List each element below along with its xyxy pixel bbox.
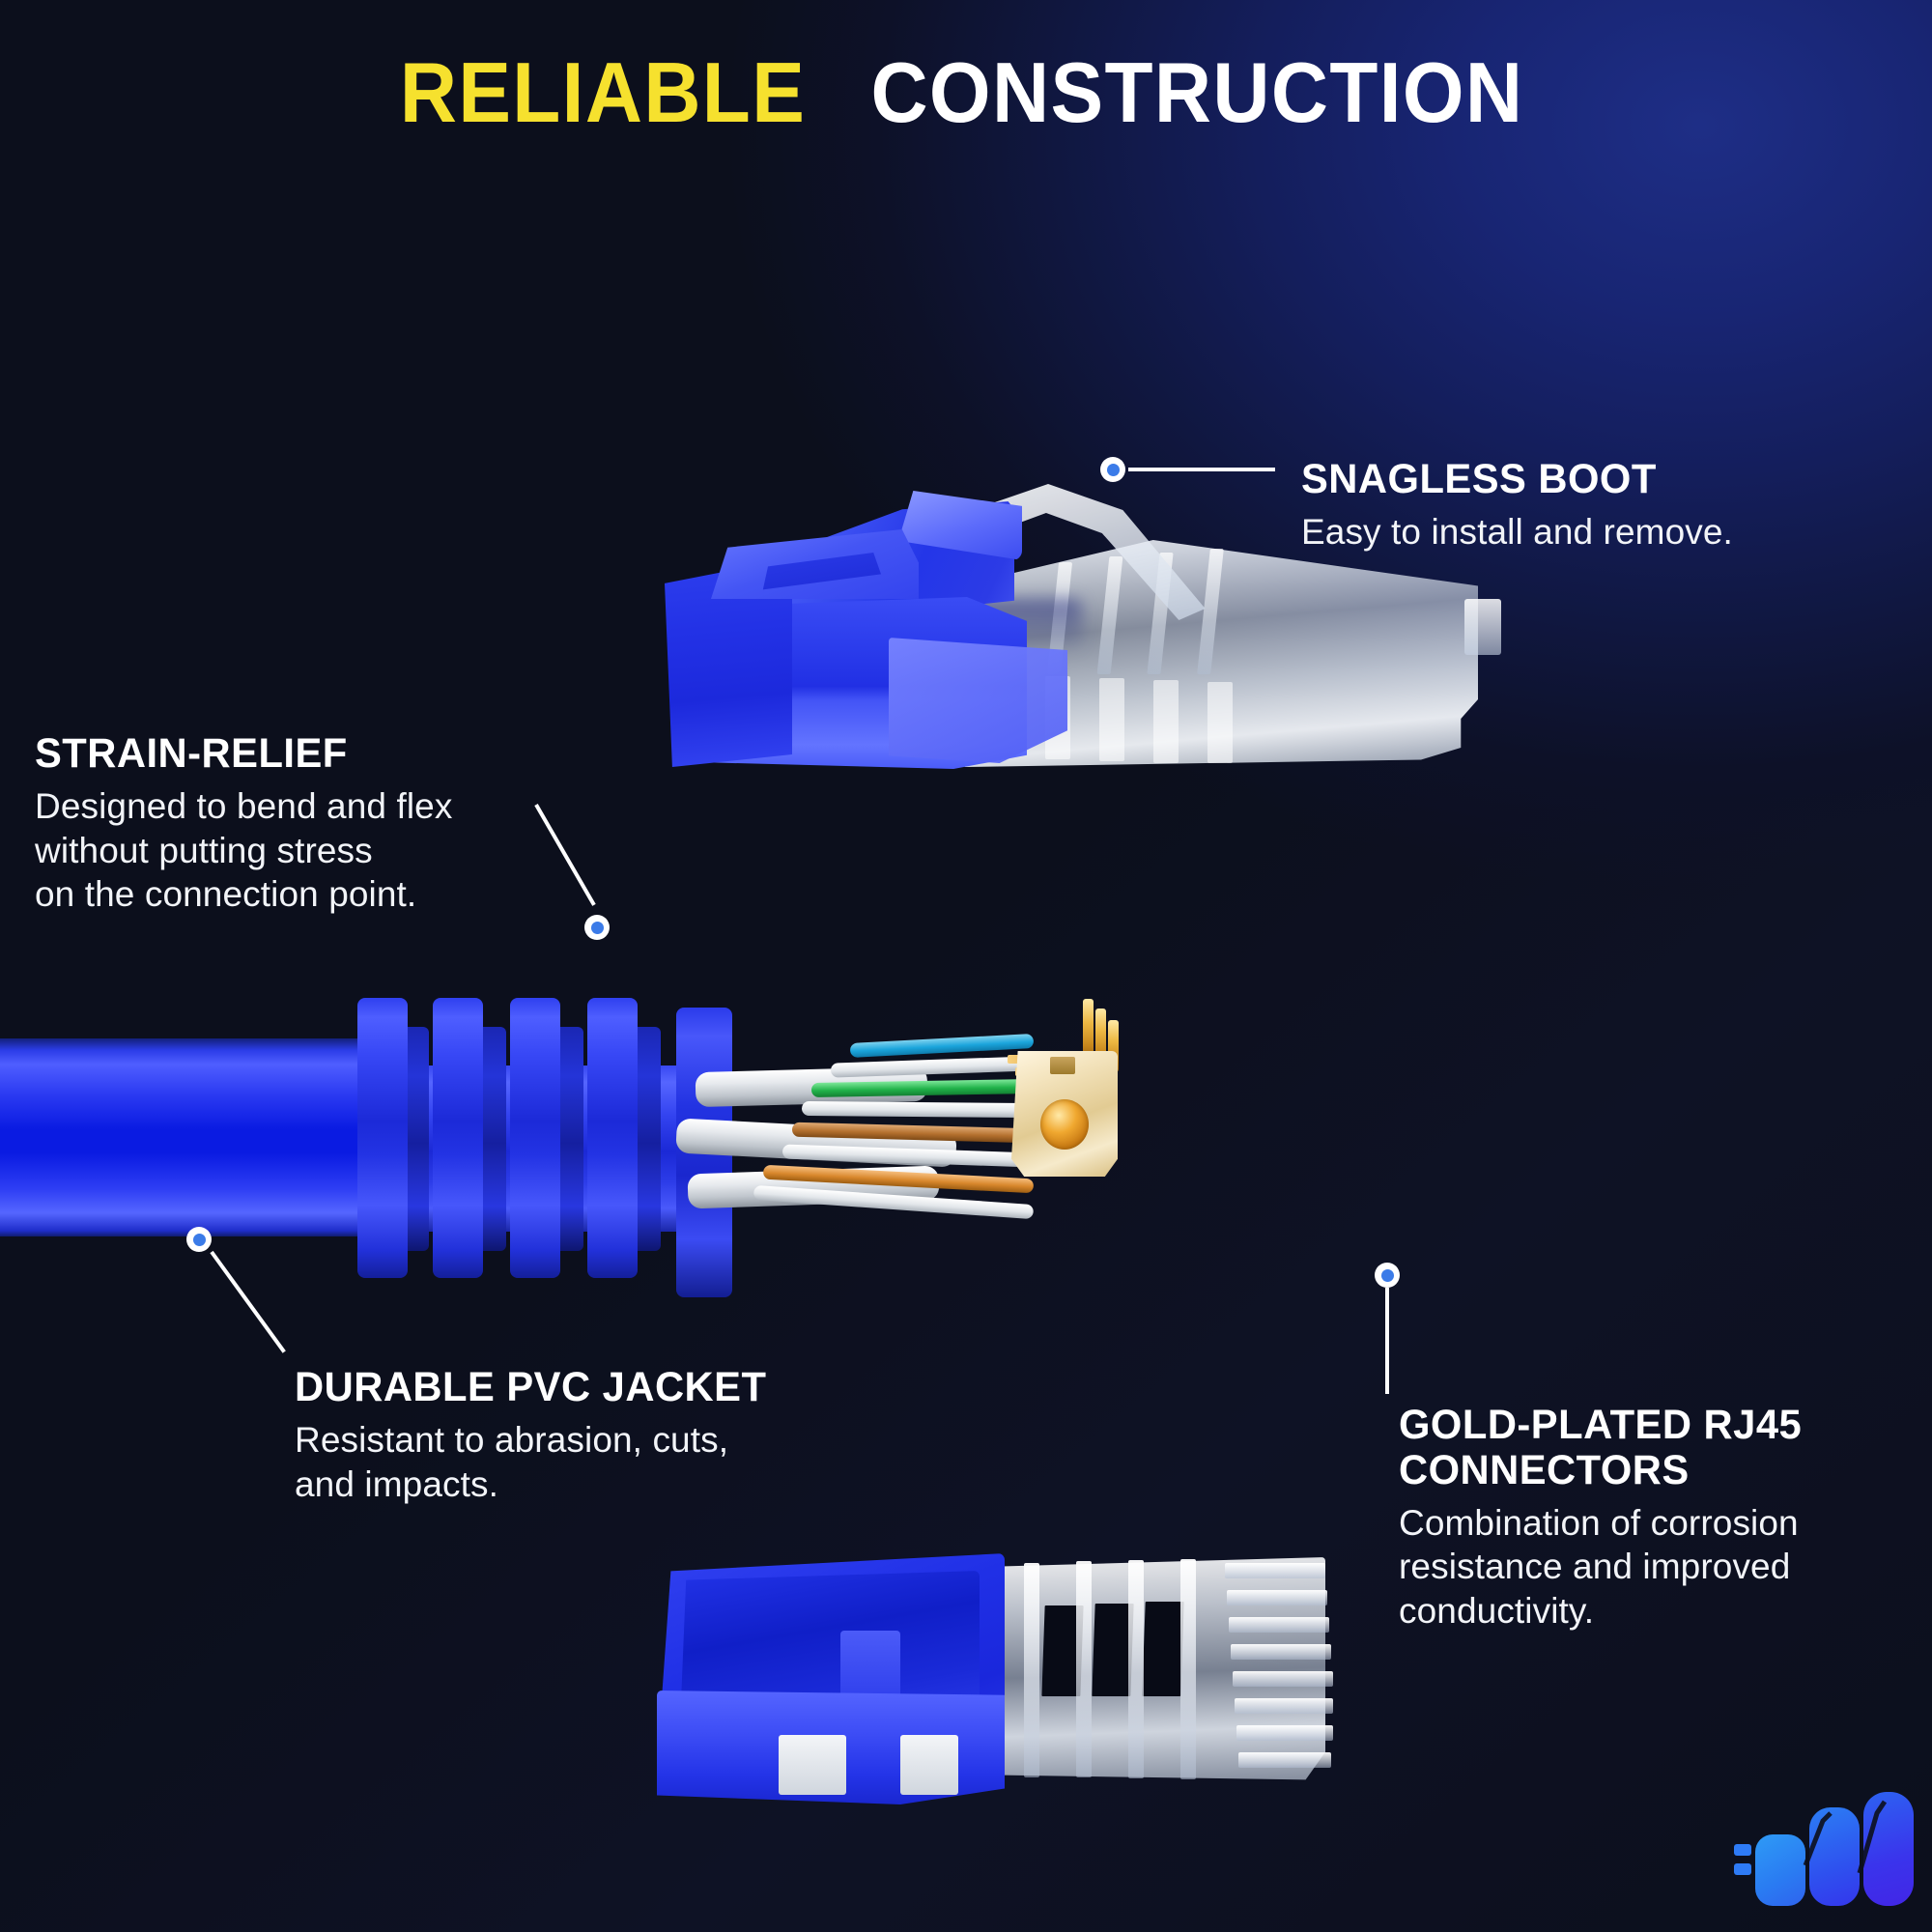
gold-plug-window — [1040, 1099, 1089, 1150]
callout-gold-plated-connectors: GOLD-PLATED RJ45 CONNECTORS Combination … — [1399, 1403, 1901, 1633]
housing-slot — [1142, 1602, 1183, 1696]
logo-dash-icon — [1734, 1844, 1751, 1856]
gold-plug-notch — [1050, 1057, 1075, 1074]
housing-ridge — [1076, 1561, 1092, 1777]
contact-ridge — [1229, 1617, 1329, 1633]
strain-relief-fin — [433, 998, 483, 1278]
callout-title-snagless-boot: SNAGLESS BOOT — [1301, 456, 1720, 503]
contact-ridge — [1225, 1563, 1325, 1578]
callout-snagless-boot: SNAGLESS BOOT Easy to install and remove… — [1301, 456, 1733, 554]
boot-tongue — [840, 1631, 900, 1702]
callout-body-pvc-jacket: Resistant to abrasion, cuts, and impacts… — [295, 1418, 781, 1506]
front-notch — [1464, 599, 1501, 655]
boot-white-patch — [900, 1735, 958, 1795]
contact-ridge — [1238, 1752, 1331, 1768]
housing-ridge — [1024, 1563, 1039, 1777]
strain-relief-fin — [510, 998, 560, 1278]
rj45-connector-top-view — [657, 1546, 1352, 1835]
callout-body-snagless-boot: Easy to install and remove. — [1301, 510, 1733, 554]
contact-ridge — [1227, 1590, 1327, 1605]
callout-marker-pvc-jacket[interactable] — [186, 1227, 212, 1252]
callout-body-gold-connectors: Combination of corrosion resistance and … — [1399, 1501, 1901, 1634]
boot-white-patch — [779, 1735, 846, 1795]
pvc-cable-jacket — [0, 1038, 386, 1236]
callout-marker-gold-connectors[interactable] — [1375, 1263, 1400, 1288]
callout-leader-gold-connectors — [1385, 1288, 1389, 1394]
callout-body-strain-relief: Designed to bend and flex without puttin… — [35, 784, 452, 917]
callout-title-gold-connectors-line1: GOLD-PLATED RJ45 — [1399, 1403, 1886, 1448]
strain-relief-fin — [357, 998, 408, 1278]
pin-window — [1153, 680, 1179, 763]
callout-durable-pvc-jacket: DURABLE PVC JACKET Resistant to abrasion… — [295, 1364, 781, 1506]
housing-ridge — [1128, 1560, 1144, 1778]
page-title: RELIABLE CONSTRUCTION — [0, 50, 1932, 135]
contact-ridge — [1233, 1671, 1333, 1687]
pin-window — [1207, 682, 1233, 763]
callout-title-gold-connectors-line2: CONNECTORS — [1399, 1448, 1886, 1493]
pin-window — [1099, 678, 1124, 761]
title-rest: CONSTRUCTION — [870, 50, 1523, 135]
strain-relief-fin — [587, 998, 638, 1278]
contact-ridge — [1231, 1644, 1331, 1660]
callout-strain-relief: STRAIN-RELIEF Designed to bend and flex … — [35, 730, 452, 917]
housing-ridge — [1180, 1559, 1196, 1779]
callout-title-pvc-jacket: DURABLE PVC JACKET — [295, 1364, 766, 1411]
gold-plated-rj45-plug — [990, 976, 1135, 1188]
callout-title-strain-relief: STRAIN-RELIEF — [35, 730, 440, 778]
gold-contact — [1083, 999, 1094, 1059]
strain-relief-boot — [357, 998, 715, 1278]
title-highlight: RELIABLE — [399, 50, 805, 135]
contact-ridge — [1235, 1698, 1333, 1714]
logo-wave-icon — [1755, 1792, 1914, 1908]
callout-marker-strain-relief[interactable] — [584, 915, 610, 940]
logo-dash-icon — [1734, 1863, 1751, 1875]
contact-ridge — [1236, 1725, 1333, 1741]
callout-leader-snagless-boot — [1128, 468, 1275, 471]
brand-logo[interactable] — [1734, 1792, 1903, 1908]
callout-marker-snagless-boot[interactable] — [1100, 457, 1125, 482]
